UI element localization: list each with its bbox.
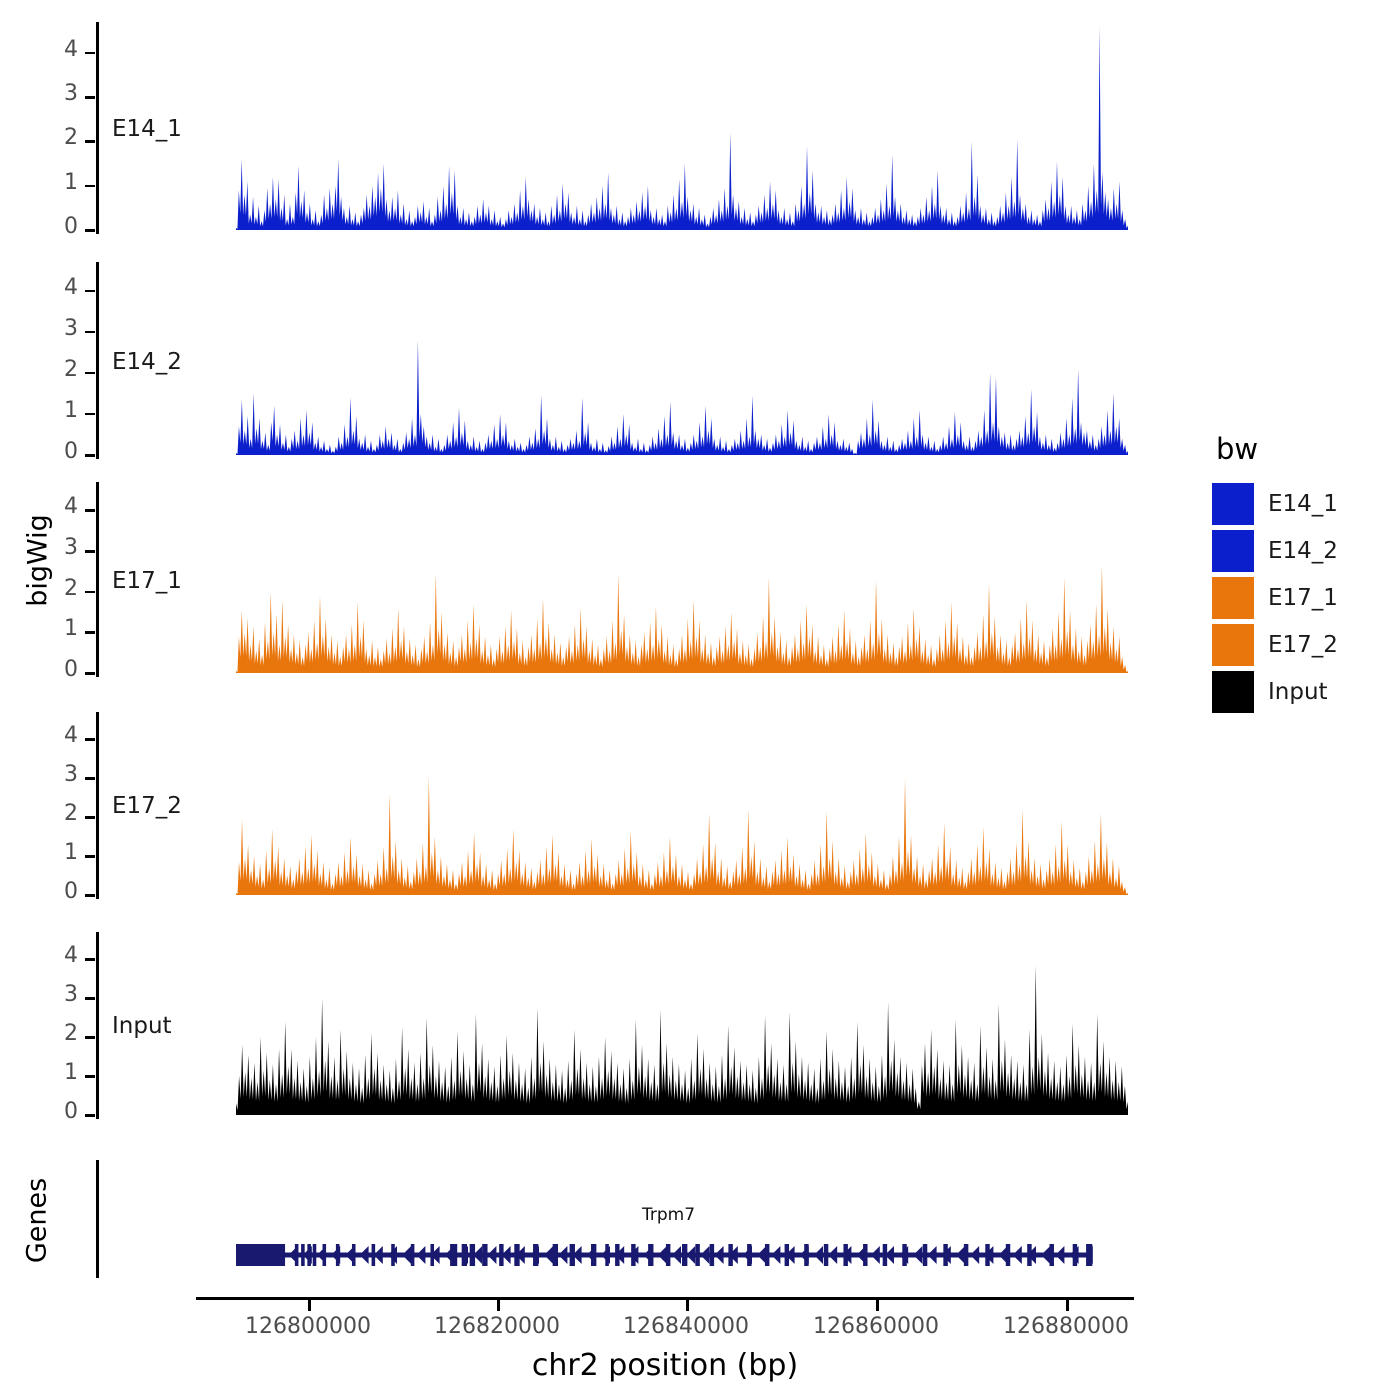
y-tick-label: 0: [22, 659, 78, 681]
gene-exon: [923, 1244, 927, 1266]
gene-exon: [964, 1244, 968, 1266]
y-tick-label: 0: [22, 881, 78, 903]
panel-e14_1-y-axis: [96, 22, 99, 234]
gene-exon: [430, 1244, 434, 1266]
gene-exon: [462, 1244, 467, 1266]
y-tick-label: 4: [22, 496, 78, 518]
legend-label: E17_1: [1268, 585, 1338, 611]
y-tick-label: 1: [22, 842, 78, 864]
strand-arrow-left-icon: [544, 1246, 553, 1264]
gene-exon: [336, 1244, 340, 1266]
y-tick: [85, 52, 95, 55]
gene-exon: [236, 1244, 285, 1266]
gene-exon: [883, 1244, 887, 1266]
legend-title: bw: [1216, 432, 1392, 466]
y-tick-label: 3: [22, 537, 78, 559]
x-tick: [497, 1300, 500, 1311]
strand-arrow-left-icon: [1055, 1246, 1064, 1264]
track-input: [236, 932, 1128, 1117]
gene-exon: [648, 1244, 653, 1266]
x-tick-label: 126800000: [198, 1314, 418, 1339]
panel-label-input: Input: [112, 1013, 172, 1039]
y-tick: [85, 631, 95, 634]
x-tick: [686, 1300, 689, 1311]
y-tick: [85, 738, 95, 741]
strand-arrow-left-icon: [658, 1246, 667, 1264]
strand-arrow-left-icon: [558, 1246, 567, 1264]
y-tick: [85, 958, 95, 961]
strand-arrow-left-icon: [487, 1246, 496, 1264]
legend-items: E14_1E14_2E17_1E17_2Input: [1212, 480, 1392, 715]
legend-swatch-icon: [1212, 483, 1254, 525]
y-axis-strip-genes: Genes: [22, 1156, 53, 1286]
gene-exon: [615, 1244, 619, 1266]
y-tick-label: 2: [22, 359, 78, 381]
genome-browser-figure: bigWig Genes Trpm7 126800000126820000126…: [0, 0, 1400, 1400]
gene-exon: [1073, 1244, 1077, 1266]
strand-arrow-left-icon: [956, 1246, 965, 1264]
track-e17_2: [236, 712, 1128, 897]
gene-exon: [391, 1244, 395, 1266]
strand-arrow-left-icon: [700, 1246, 709, 1264]
legend-label: Input: [1268, 679, 1328, 705]
gene-exon: [533, 1244, 538, 1266]
legend-item-e14_1[interactable]: E14_1: [1212, 480, 1392, 527]
y-tick: [85, 997, 95, 1000]
y-tick: [85, 290, 95, 293]
gene-exon: [843, 1244, 847, 1266]
strand-arrow-left-icon: [771, 1246, 780, 1264]
legend-label: E14_2: [1268, 538, 1338, 564]
y-tick-label: 0: [22, 441, 78, 463]
gene-exon: [1050, 1244, 1054, 1266]
gene-exon: [1006, 1244, 1010, 1266]
gene-exon: [863, 1244, 867, 1266]
gene-model-track: [236, 1238, 1128, 1272]
y-tick-label: 0: [22, 1101, 78, 1123]
gene-exon: [553, 1244, 558, 1266]
strand-arrow-left-icon: [828, 1246, 837, 1264]
y-tick-label: 2: [22, 803, 78, 825]
strand-arrow-left-icon: [672, 1246, 681, 1264]
gene-exon: [323, 1244, 327, 1266]
y-tick: [85, 331, 95, 334]
x-axis-line: [196, 1297, 1134, 1300]
strand-arrow-left-icon: [715, 1246, 724, 1264]
strand-arrow-left-icon: [686, 1246, 695, 1264]
legend-item-e17_1[interactable]: E17_1: [1212, 574, 1392, 621]
gene-name-label: Trpm7: [642, 1205, 695, 1225]
track-e14_2: [236, 262, 1128, 457]
y-tick-label: 4: [22, 725, 78, 747]
y-tick-label: 4: [22, 277, 78, 299]
strand-arrow-left-icon: [970, 1246, 979, 1264]
gene-exon: [765, 1244, 769, 1266]
x-tick-label: 126840000: [576, 1314, 796, 1339]
gene-exon: [804, 1244, 808, 1266]
y-tick: [85, 1075, 95, 1078]
gene-exon: [301, 1244, 305, 1266]
strand-arrow-left-icon: [416, 1246, 425, 1264]
x-tick: [876, 1300, 879, 1311]
gene-exon: [710, 1244, 714, 1266]
panel-e14_2-y-axis: [96, 262, 99, 459]
panel-label-e17_2: E17_2: [112, 793, 182, 819]
gene-exon: [295, 1244, 299, 1266]
gene-exon: [605, 1244, 609, 1266]
area-path: [236, 26, 1128, 230]
y-tick: [85, 1114, 95, 1117]
gene-exon: [985, 1244, 989, 1266]
y-tick-label: 2: [22, 127, 78, 149]
strand-arrow-left-icon: [814, 1246, 823, 1264]
y-tick: [85, 550, 95, 553]
area-path: [236, 565, 1128, 673]
legend-swatch-icon: [1212, 624, 1254, 666]
y-tick: [85, 591, 95, 594]
gene-exon: [666, 1244, 670, 1266]
area-path: [236, 776, 1128, 895]
gene-exon: [570, 1244, 575, 1266]
gene-exon: [902, 1244, 906, 1266]
gene-exon: [1086, 1244, 1092, 1266]
gene-exon: [372, 1244, 376, 1266]
gene-exon: [352, 1244, 356, 1266]
gene-exon: [514, 1244, 519, 1266]
y-tick-label: 2: [22, 1023, 78, 1045]
y-tick-label: 1: [22, 400, 78, 422]
gene-exon: [824, 1244, 828, 1266]
gene-exon: [313, 1244, 317, 1266]
y-tick-label: 1: [22, 618, 78, 640]
y-tick: [85, 140, 95, 143]
legend-swatch-icon: [1212, 577, 1254, 619]
y-tick: [85, 672, 95, 675]
legend-label: E14_1: [1268, 491, 1338, 517]
panel-e17_2-y-axis: [96, 712, 99, 899]
y-tick: [85, 816, 95, 819]
gene-exon: [785, 1244, 789, 1266]
y-tick: [85, 96, 95, 99]
strand-arrow-left-icon: [1013, 1246, 1022, 1264]
x-tick: [1066, 1300, 1069, 1311]
y-tick: [85, 229, 95, 232]
y-tick: [85, 413, 95, 416]
strand-arrow-left-icon: [1041, 1246, 1050, 1264]
strand-arrow-left-icon: [757, 1246, 766, 1264]
x-tick-label: 126820000: [387, 1314, 607, 1339]
strand-arrow-left-icon: [913, 1246, 922, 1264]
y-tick-label: 4: [22, 39, 78, 61]
x-axis-title: chr2 position (bp): [196, 1348, 1134, 1383]
gene-exon: [943, 1244, 947, 1266]
y-tick: [85, 777, 95, 780]
gene-exon: [695, 1244, 699, 1266]
y-tick: [85, 372, 95, 375]
legend-item-e17_2[interactable]: E17_2: [1212, 621, 1392, 668]
y-tick-label: 2: [22, 578, 78, 600]
gene-exon: [631, 1244, 635, 1266]
legend-label: E17_2: [1268, 632, 1338, 658]
gene-exon: [728, 1244, 732, 1266]
strand-arrow-left-icon: [928, 1246, 937, 1264]
y-tick: [85, 1036, 95, 1039]
y-tick: [85, 509, 95, 512]
panel-label-e14_1: E14_1: [112, 116, 182, 142]
panel-label-e14_2: E14_2: [112, 349, 182, 375]
legend-item-input[interactable]: Input: [1212, 668, 1392, 715]
legend-item-e14_2[interactable]: E14_2: [1212, 527, 1392, 574]
panel-e17_1-y-axis: [96, 482, 99, 677]
area-path: [236, 965, 1128, 1115]
gene-exon: [591, 1244, 596, 1266]
y-tick: [85, 894, 95, 897]
gene-exon: [470, 1244, 475, 1266]
y-tick-label: 3: [22, 764, 78, 786]
gene-exon: [307, 1244, 311, 1266]
y-tick-label: 3: [22, 984, 78, 1006]
y-tick: [85, 454, 95, 457]
strand-arrow-left-icon: [360, 1246, 369, 1264]
gene-exon: [450, 1244, 457, 1266]
panel-label-e17_1: E17_1: [112, 568, 182, 594]
y-tick: [85, 185, 95, 188]
genes-panel-axis: [96, 1160, 99, 1278]
x-tick-label: 126880000: [956, 1314, 1176, 1339]
legend: bw E14_1E14_2E17_1E17_2Input: [1212, 432, 1392, 715]
y-tick-label: 1: [22, 1062, 78, 1084]
gene-exon: [482, 1244, 487, 1266]
gene-exon: [747, 1244, 751, 1266]
legend-swatch-icon: [1212, 530, 1254, 572]
panel-input-y-axis: [96, 932, 99, 1119]
y-tick-label: 0: [22, 216, 78, 238]
track-e17_1: [236, 482, 1128, 675]
x-tick: [308, 1300, 311, 1311]
gene-exon: [411, 1244, 415, 1266]
gene-exon: [682, 1244, 687, 1266]
area-path: [236, 340, 1128, 455]
y-tick: [85, 855, 95, 858]
y-tick-label: 3: [22, 318, 78, 340]
y-tick-label: 3: [22, 83, 78, 105]
strand-arrow-left-icon: [402, 1246, 411, 1264]
track-e14_1: [236, 22, 1128, 232]
gene-exon: [1027, 1244, 1031, 1266]
x-tick-label: 126860000: [766, 1314, 986, 1339]
gene-exon: [499, 1244, 503, 1266]
y-tick-label: 1: [22, 172, 78, 194]
strand-arrow-left-icon: [871, 1246, 880, 1264]
legend-swatch-icon: [1212, 671, 1254, 713]
y-tick-label: 4: [22, 945, 78, 967]
